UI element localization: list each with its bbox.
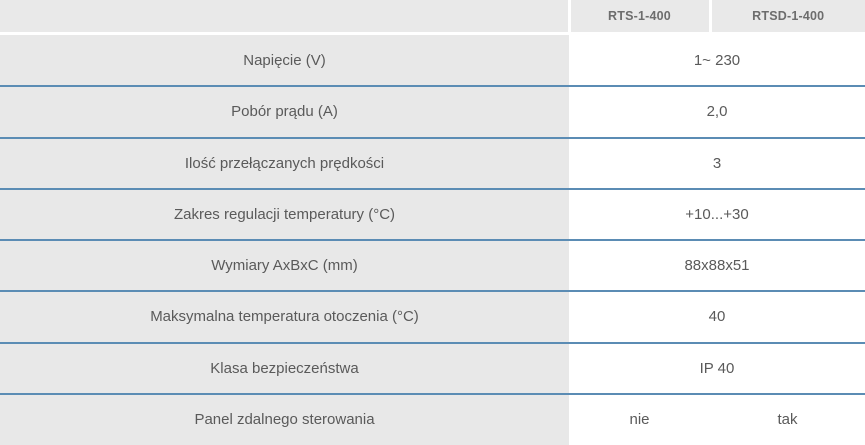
row-label: Maksymalna temperatura otoczenia (°C)	[0, 291, 569, 342]
header-row: RTS-1-400 RTSD-1-400	[0, 0, 865, 32]
row-value: 40	[569, 291, 865, 342]
row-value-rts: nie	[569, 394, 710, 445]
row-value: +10...+30	[569, 189, 865, 240]
row-value: IP 40	[569, 343, 865, 394]
row-label: Pobór prądu (A)	[0, 86, 569, 137]
table-row: Wymiary AxBxC (mm) 88x88x51	[0, 240, 865, 291]
row-value: 88x88x51	[569, 240, 865, 291]
table-row: Zakres regulacji temperatury (°C) +10...…	[0, 189, 865, 240]
row-value: 3	[569, 138, 865, 189]
row-value: 2,0	[569, 86, 865, 137]
row-label: Zakres regulacji temperatury (°C)	[0, 189, 569, 240]
row-label: Napięcie (V)	[0, 35, 569, 86]
row-value-rtsd: tak	[710, 394, 865, 445]
specifications-table: RTS-1-400 RTSD-1-400 Napięcie (V) 1~ 230…	[0, 0, 865, 445]
table-row: Panel zdalnego sterowania nie tak	[0, 394, 865, 445]
row-label: Ilość przełączanych prędkości	[0, 138, 569, 189]
table-row: Klasa bezpieczeństwa IP 40	[0, 343, 865, 394]
column-header-rtsd: RTSD-1-400	[710, 0, 865, 32]
table-row: Pobór prądu (A) 2,0	[0, 86, 865, 137]
row-label: Panel zdalnego sterowania	[0, 394, 569, 445]
table-row: Napięcie (V) 1~ 230	[0, 35, 865, 86]
table-row: Ilość przełączanych prędkości 3	[0, 138, 865, 189]
row-label: Klasa bezpieczeństwa	[0, 343, 569, 394]
table-header: RTS-1-400 RTSD-1-400	[0, 0, 865, 35]
table-body: Napięcie (V) 1~ 230 Pobór prądu (A) 2,0 …	[0, 35, 865, 445]
row-label: Wymiary AxBxC (mm)	[0, 240, 569, 291]
table-row: Maksymalna temperatura otoczenia (°C) 40	[0, 291, 865, 342]
header-label-spacer	[0, 0, 569, 32]
row-value: 1~ 230	[569, 35, 865, 86]
column-header-rts: RTS-1-400	[569, 0, 710, 32]
